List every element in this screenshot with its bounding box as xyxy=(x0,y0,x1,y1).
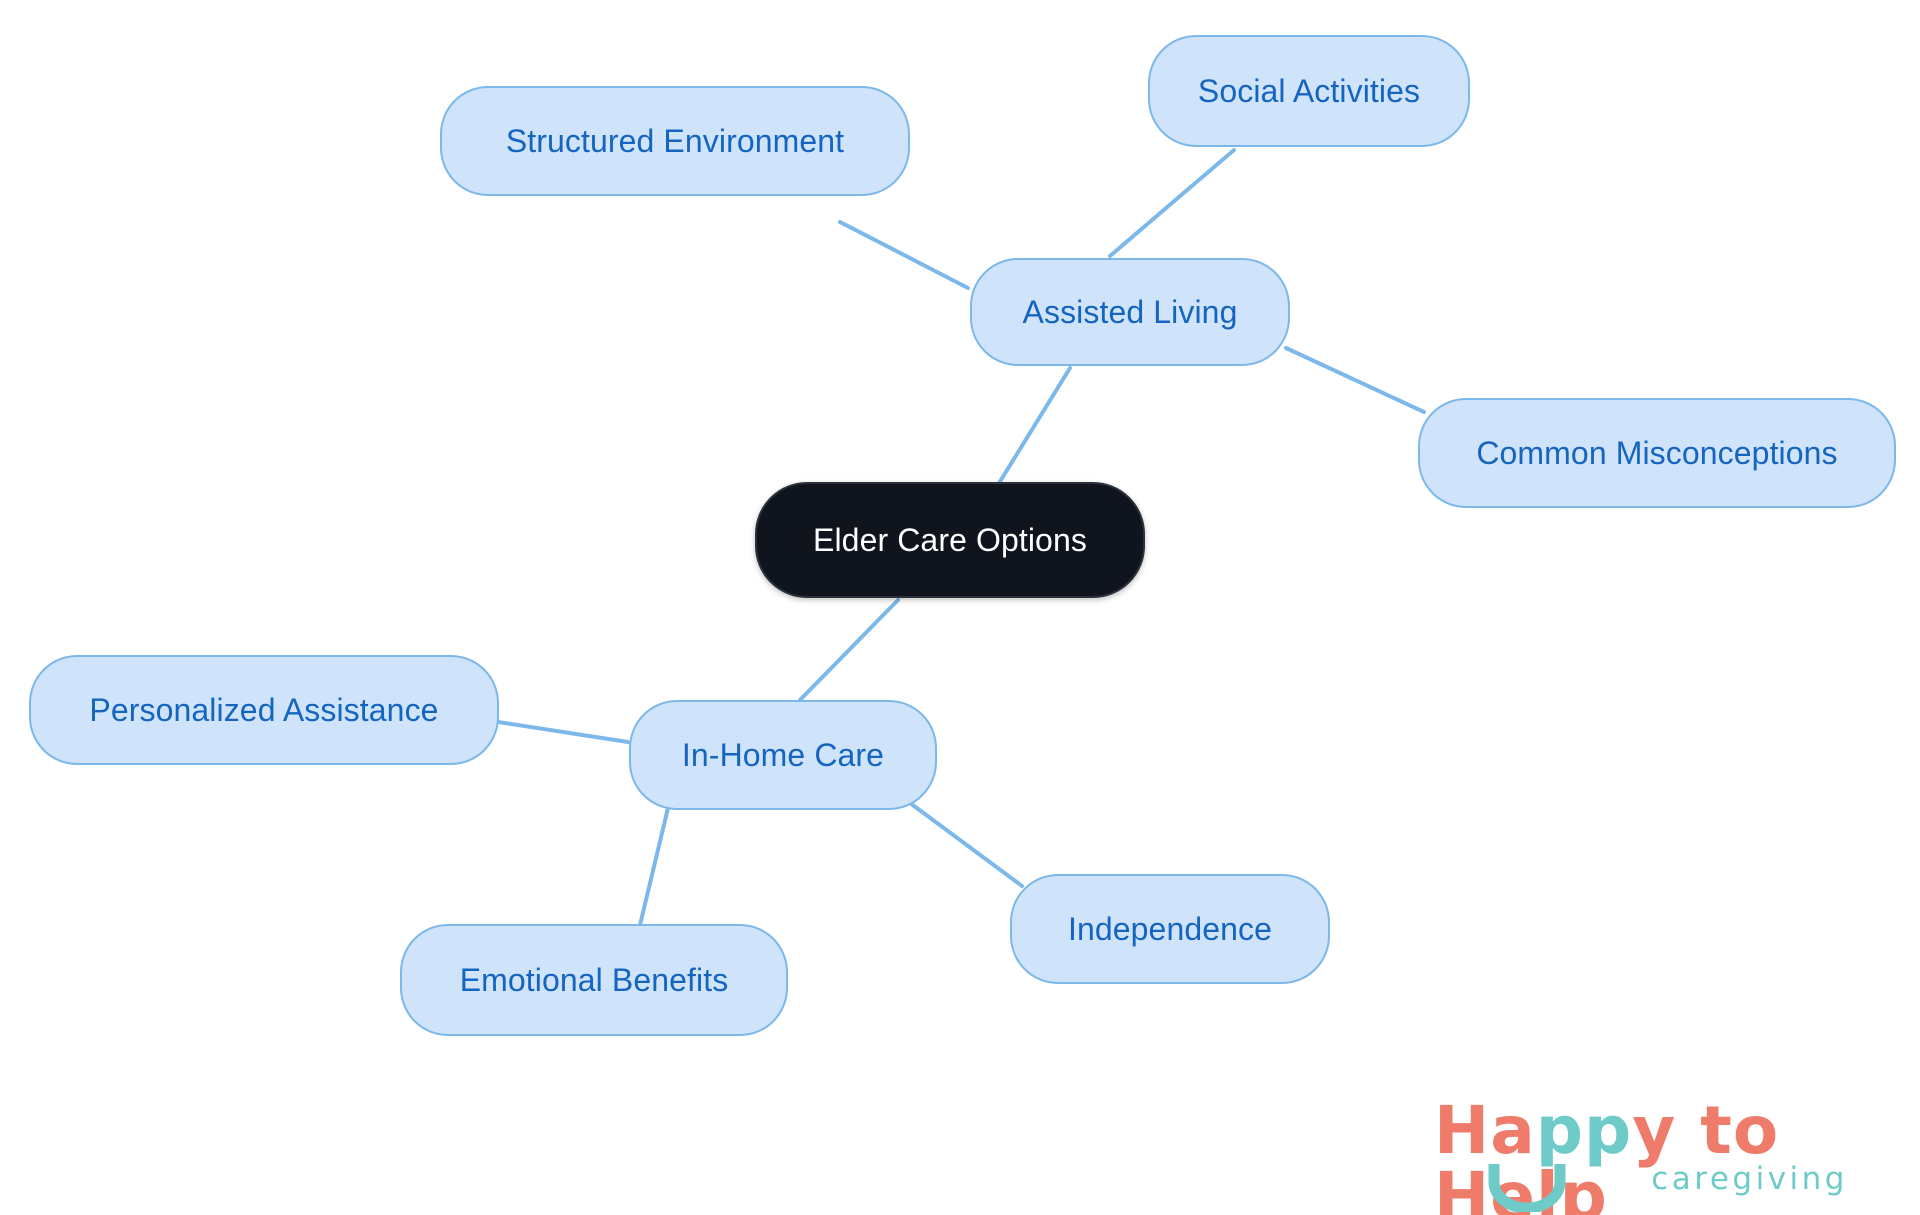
edge-in-home-personalized xyxy=(498,722,628,742)
edge-assisted-misconceptions xyxy=(1286,348,1424,412)
node-label: Assisted Living xyxy=(1023,294,1238,331)
mindmap-canvas: Elder Care Options Assisted Living Struc… xyxy=(0,0,1920,1215)
brand-tagline: caregiving xyxy=(1651,1164,1848,1195)
edge-assisted-social xyxy=(1110,150,1234,256)
node-label: Common Misconceptions xyxy=(1476,435,1837,472)
edge-layer xyxy=(0,0,1920,1215)
node-label: Emotional Benefits xyxy=(460,962,729,999)
mindmap-node-elder-care-options[interactable]: Elder Care Options xyxy=(755,482,1145,598)
edge-in-home-emotional xyxy=(640,808,668,925)
mindmap-node-independence[interactable]: Independence xyxy=(1010,874,1330,984)
node-label: Independence xyxy=(1068,911,1272,948)
edge-root-assisted-living xyxy=(996,368,1070,488)
node-label: Elder Care Options xyxy=(813,522,1087,559)
edge-in-home-independence xyxy=(906,800,1022,886)
mindmap-node-structured-environment[interactable]: Structured Environment xyxy=(440,86,910,196)
mindmap-node-assisted-living[interactable]: Assisted Living xyxy=(970,258,1290,366)
node-label: Social Activities xyxy=(1198,73,1420,110)
brand-logo: Happy to Help caregiving xyxy=(1434,1098,1854,1210)
mindmap-node-personalized-assistance[interactable]: Personalized Assistance xyxy=(29,655,499,765)
node-label: Structured Environment xyxy=(506,123,844,160)
node-label: Personalized Assistance xyxy=(89,692,438,729)
mindmap-node-in-home-care[interactable]: In-Home Care xyxy=(629,700,937,810)
smile-arc-icon xyxy=(1488,1162,1566,1212)
node-label: In-Home Care xyxy=(682,737,884,774)
edge-root-in-home xyxy=(800,600,898,700)
mindmap-node-social-activities[interactable]: Social Activities xyxy=(1148,35,1470,147)
brand-word-y: y xyxy=(1632,1092,1676,1169)
mindmap-node-emotional-benefits[interactable]: Emotional Benefits xyxy=(400,924,788,1036)
mindmap-node-common-misconceptions[interactable]: Common Misconceptions xyxy=(1418,398,1896,508)
edge-assisted-structured xyxy=(840,222,968,288)
